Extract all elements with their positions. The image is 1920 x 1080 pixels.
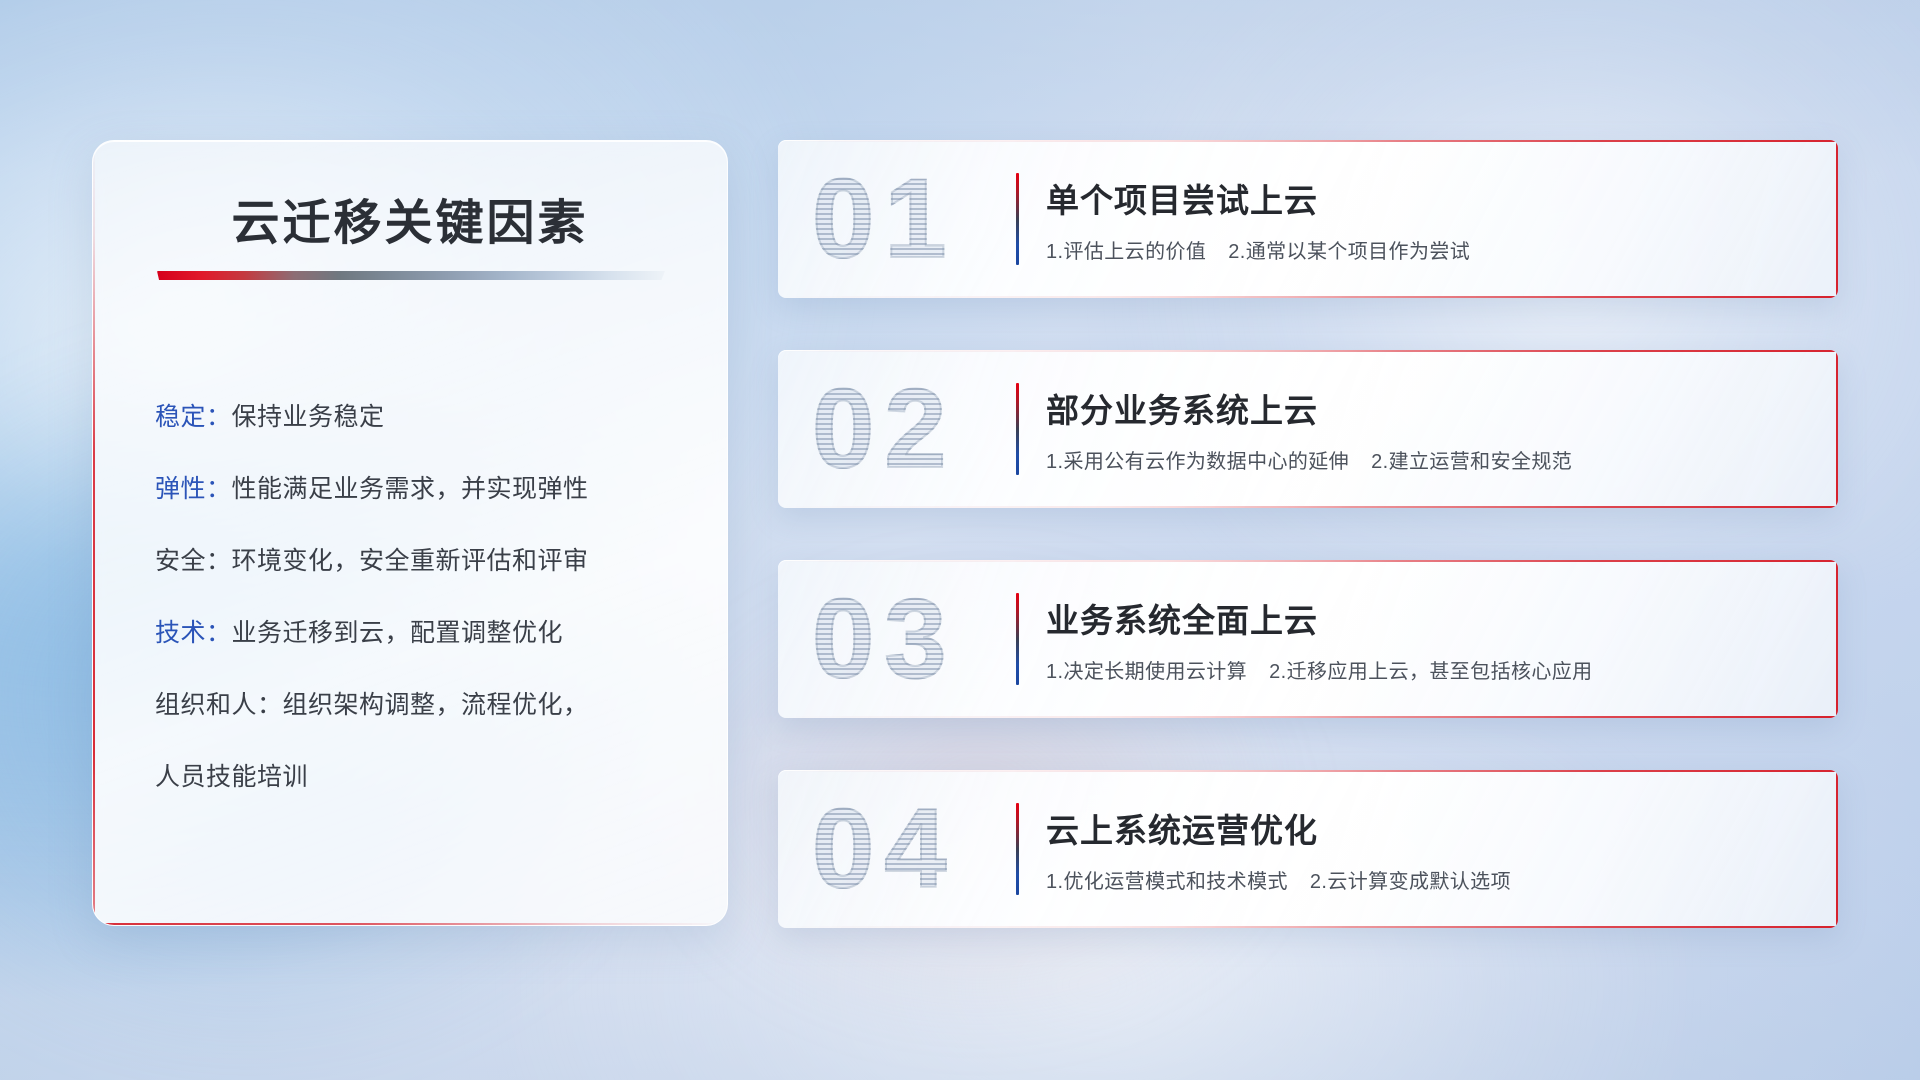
list-item-text: 组织架构调整，流程优化，: [283, 691, 589, 719]
card-title: 业务系统全面上云: [1046, 594, 1798, 642]
card-title: 云上系统运营优化: [1046, 804, 1798, 852]
card-border-top: [778, 350, 1838, 352]
card-text-block: 云上系统运营优化 1.优化运营模式和技术模式2.云计算变成默认选项: [1046, 804, 1798, 894]
card-description-point-2: 2.云计算变成默认选项: [1310, 871, 1511, 893]
card-description: 1.优化运营模式和技术模式2.云计算变成默认选项: [1046, 865, 1798, 894]
card-border-bottom: [778, 716, 1838, 718]
card-border-bottom: [778, 506, 1838, 508]
list-item-text: 保持业务稳定: [232, 403, 385, 431]
stage-card-01[interactable]: 01 01 单个项目尝试上云 1.评估上云的价值2.通常以某个项目作为尝试: [778, 140, 1838, 298]
card-border-right: [1836, 140, 1838, 298]
card-description-point-1: 1.评估上云的价值: [1046, 241, 1206, 263]
card-description-point-2: 2.建立运营和安全规范: [1371, 451, 1572, 473]
card-title: 单个项目尝试上云: [1046, 174, 1798, 222]
stage-card-02[interactable]: 02 02 部分业务系统上云 1.采用公有云作为数据中心的延伸2.建立运营和安全…: [778, 350, 1838, 508]
card-border-top: [778, 560, 1838, 562]
list-item-label: 组织和人：: [155, 691, 283, 719]
card-accent-bar: [1016, 383, 1019, 475]
list-item-label: 技术：: [155, 619, 232, 647]
card-border-top: [778, 770, 1838, 772]
list-item: 弹性：性能满足业务需求，并实现弹性: [155, 453, 691, 525]
card-description-point-1: 1.优化运营模式和技术模式: [1046, 871, 1288, 893]
card-number-striped: 02: [812, 373, 957, 485]
card-accent-bar: [1016, 173, 1019, 265]
card-number-striped: 01: [812, 163, 957, 275]
list-item-text: 性能满足业务需求，并实现弹性: [232, 475, 589, 503]
migration-stage-cards: 01 01 单个项目尝试上云 1.评估上云的价值2.通常以某个项目作为尝试 02…: [778, 140, 1838, 928]
card-title: 部分业务系统上云: [1046, 384, 1798, 432]
card-number-shadow: 03: [812, 583, 957, 695]
card-description-point-1: 1.决定长期使用云计算: [1046, 661, 1247, 683]
card-number-striped: 04: [812, 793, 957, 905]
stage-card-03[interactable]: 03 03 业务系统全面上云 1.决定长期使用云计算2.迁移应用上云，甚至包括核…: [778, 560, 1838, 718]
card-description-point-2: 2.迁移应用上云，甚至包括核心应用: [1269, 661, 1592, 683]
card-border-right: [1836, 560, 1838, 718]
card-text-block: 部分业务系统上云 1.采用公有云作为数据中心的延伸2.建立运营和安全规范: [1046, 384, 1798, 474]
card-description: 1.决定长期使用云计算2.迁移应用上云，甚至包括核心应用: [1046, 655, 1798, 684]
card-number-shadow: 04: [812, 793, 957, 905]
card-description-point-1: 1.采用公有云作为数据中心的延伸: [1046, 451, 1349, 473]
card-text-block: 单个项目尝试上云 1.评估上云的价值2.通常以某个项目作为尝试: [1046, 174, 1798, 264]
card-number-striped: 03: [812, 583, 957, 695]
list-item-label: 弹性：: [155, 475, 232, 503]
card-number-shadow: 02: [812, 373, 957, 485]
list-item-text: 业务迁移到云，配置调整优化: [232, 619, 564, 647]
list-item-label: 稳定：: [155, 403, 232, 431]
card-number-shadow: 01: [812, 163, 957, 275]
card-border-top: [778, 140, 1838, 142]
card-border-bottom: [778, 296, 1838, 298]
title-divider-rule: [157, 271, 665, 280]
key-factors-panel: 云迁移关键因素 稳定：保持业务稳定 弹性：性能满足业务需求，并实现弹性 安全：环…: [92, 140, 728, 926]
list-item: 技术：业务迁移到云，配置调整优化: [155, 597, 691, 669]
list-item: 安全：环境变化，安全重新评估和评审: [155, 525, 691, 597]
page-title: 云迁移关键因素: [93, 183, 727, 253]
card-border-right: [1836, 350, 1838, 508]
card-description: 1.评估上云的价值2.通常以某个项目作为尝试: [1046, 235, 1798, 264]
card-description-point-2: 2.通常以某个项目作为尝试: [1228, 241, 1470, 263]
card-description: 1.采用公有云作为数据中心的延伸2.建立运营和安全规范: [1046, 445, 1798, 474]
list-item-label: 安全：: [155, 547, 232, 575]
card-border-bottom: [778, 926, 1838, 928]
list-item-text: 人员技能培训: [155, 763, 308, 791]
card-accent-bar: [1016, 593, 1019, 685]
list-item: 组织和人：组织架构调整，流程优化，: [155, 669, 691, 741]
list-item-continuation: 人员技能培训: [155, 741, 691, 813]
list-item: 稳定：保持业务稳定: [155, 381, 691, 453]
card-border-right: [1836, 770, 1838, 928]
list-item-text: 环境变化，安全重新评估和评审: [232, 547, 589, 575]
slide-stage: 云迁移关键因素 稳定：保持业务稳定 弹性：性能满足业务需求，并实现弹性 安全：环…: [0, 0, 1920, 1080]
key-factors-list: 稳定：保持业务稳定 弹性：性能满足业务需求，并实现弹性 安全：环境变化，安全重新…: [155, 381, 691, 813]
stage-card-04[interactable]: 04 04 云上系统运营优化 1.优化运营模式和技术模式2.云计算变成默认选项: [778, 770, 1838, 928]
card-accent-bar: [1016, 803, 1019, 895]
card-text-block: 业务系统全面上云 1.决定长期使用云计算2.迁移应用上云，甚至包括核心应用: [1046, 594, 1798, 684]
